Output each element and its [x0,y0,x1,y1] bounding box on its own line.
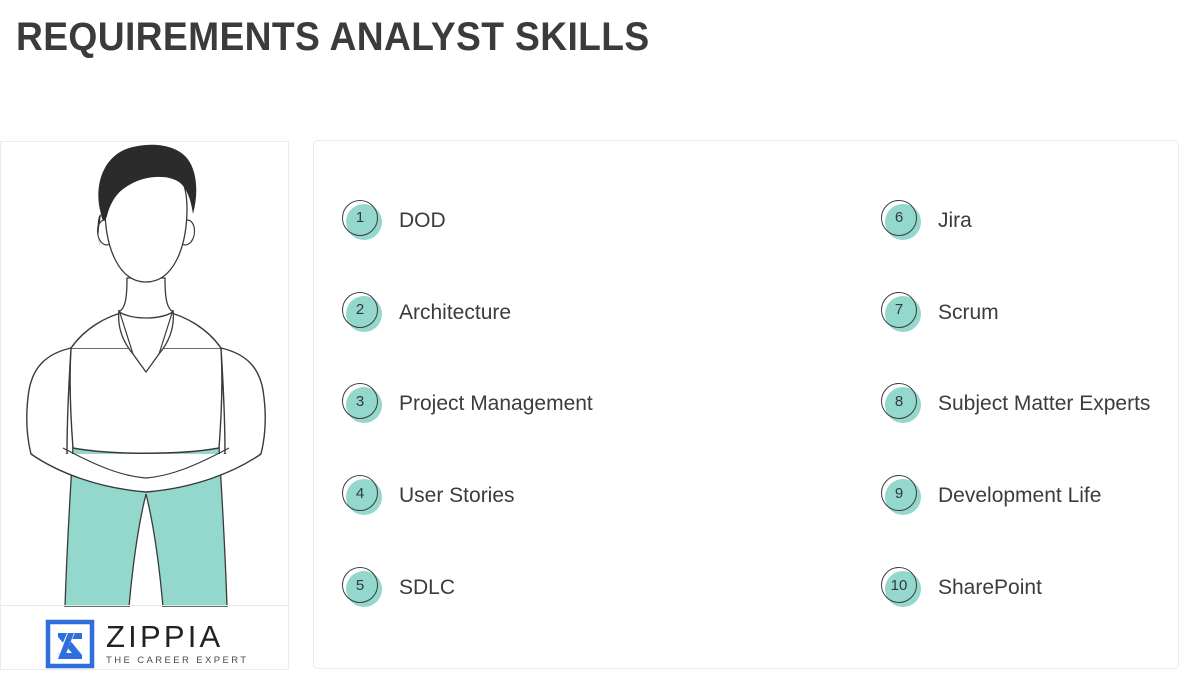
skill-item-1[interactable]: 1 DOD [314,175,746,267]
skill-number-badge: 8 [880,382,924,426]
badge-number: 7 [881,292,917,328]
zippia-z-mark-icon [45,619,95,669]
page-title: REQUIREMENTS ANALYST SKILLS [16,14,650,60]
skill-number-badge: 2 [341,291,385,335]
skill-item-6[interactable]: 6 Jira [746,175,1178,267]
skill-label: Project Management [399,391,593,417]
skill-label: Jira [938,208,972,234]
badge-number: 8 [881,383,917,419]
skill-label: Architecture [399,300,511,326]
skill-number-badge: 9 [880,474,924,518]
badge-number: 4 [342,475,378,511]
badge-number: 10 [881,567,917,603]
skills-grid: 1 DOD 6 Jira 2 Architecture [314,141,1178,668]
badge-number: 5 [342,567,378,603]
badge-number: 1 [342,200,378,236]
skill-label: Subject Matter Experts [938,391,1150,417]
skill-label: DOD [399,208,446,234]
badge-number: 2 [342,292,378,328]
badge-number: 9 [881,475,917,511]
skill-item-9[interactable]: 9 Development Life [746,450,1178,542]
skill-item-3[interactable]: 3 Project Management [314,359,746,451]
skill-label: User Stories [399,483,515,509]
skill-item-7[interactable]: 7 Scrum [746,267,1178,359]
skill-label: SDLC [399,575,455,601]
illustration-panel: ZIPPIA THE CAREER EXPERT [0,141,289,670]
skill-label: SharePoint [938,575,1042,601]
zippia-logo[interactable]: ZIPPIA THE CAREER EXPERT [45,619,249,669]
skills-card: 1 DOD 6 Jira 2 Architecture [313,140,1179,669]
skill-item-5[interactable]: 5 SDLC [314,542,746,634]
skill-label: Development Life [938,483,1101,509]
zippia-wordmark-group: ZIPPIA THE CAREER EXPERT [106,621,249,667]
skill-number-badge: 10 [880,566,924,610]
panel-divider [1,605,289,606]
skill-item-2[interactable]: 2 Architecture [314,267,746,359]
person-illustration [1,142,289,607]
zippia-tagline: THE CAREER EXPERT [106,655,249,667]
skill-number-badge: 5 [341,566,385,610]
skill-label: Scrum [938,300,999,326]
skill-item-4[interactable]: 4 User Stories [314,450,746,542]
skill-number-badge: 6 [880,199,924,243]
skill-number-badge: 3 [341,382,385,426]
infographic-page: REQUIREMENTS ANALYST SKILLS [0,0,1200,675]
skill-item-8[interactable]: 8 Subject Matter Experts [746,359,1178,451]
badge-number: 3 [342,383,378,419]
skill-number-badge: 4 [341,474,385,518]
zippia-wordmark: ZIPPIA [106,621,249,653]
skill-number-badge: 7 [880,291,924,335]
skill-item-10[interactable]: 10 SharePoint [746,542,1178,634]
badge-number: 6 [881,200,917,236]
skill-number-badge: 1 [341,199,385,243]
